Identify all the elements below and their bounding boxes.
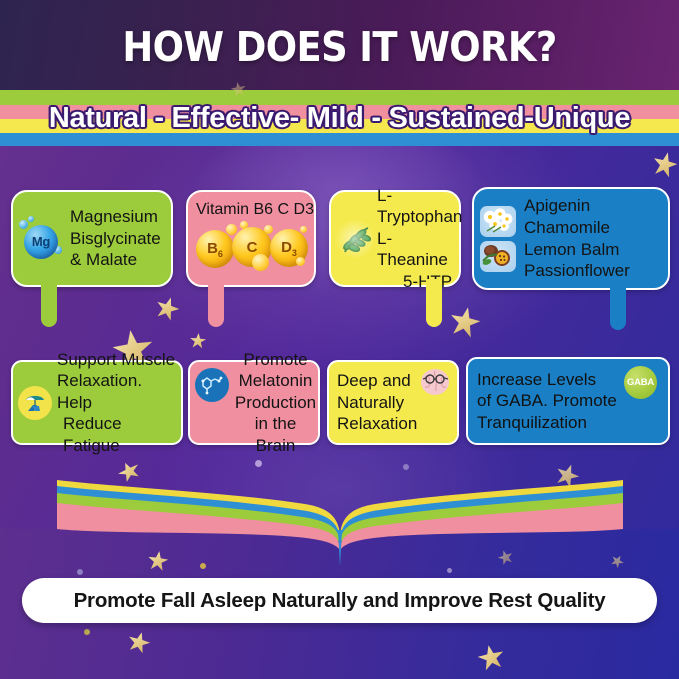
bubble-tail (208, 285, 224, 327)
ingredient-card-vitamins-heading: Vitamin B6 C D3 (196, 200, 314, 220)
text-line: Magnesium (70, 207, 158, 226)
footer-claim-pill[interactable]: Promote Fall Asleep Naturally and Improv… (22, 578, 657, 623)
brain-with-glasses-icon (419, 367, 451, 397)
ingredient-card-vitamins[interactable]: Vitamin B6 C D3 B6 C D3 (186, 190, 316, 287)
benefit-card-melatonin-text: Promote Melatonin Production in the Brai… (233, 349, 318, 457)
text-line: of GABA. Promote (477, 391, 617, 410)
benefit-card-deep-relaxation-text: Deep and Naturally Relaxation (337, 370, 417, 435)
passionfruit-icon (480, 241, 516, 272)
footer-claim-text: Promote Fall Asleep Naturally and Improv… (74, 589, 606, 613)
gaba-badge-label: GABA (627, 377, 654, 388)
benefit-card-gaba[interactable]: Increase Levels of GABA. Promote Tranqui… (466, 357, 670, 445)
banner-tagline: Natural - Effective- Mild - Sustained-Un… (0, 92, 679, 144)
page-title: HOW DOES IT WORK? (0, 23, 679, 71)
benefit-card-muscle-relaxation-text: Support Muscle Relaxation. Help Reduce F… (57, 349, 181, 457)
text-line: Deep and (337, 371, 411, 390)
dot-decoration (255, 460, 262, 467)
text-line: Relaxation. Help (57, 371, 142, 412)
ingredient-card-magnesium[interactable]: Mg Magnesium Bisglycinate & Malate (11, 190, 173, 287)
text-line: Naturally (337, 393, 404, 412)
ingredient-card-aminoacids-text: L-Tryptophan L-Theanine 5-HTP (377, 185, 462, 293)
beach-umbrella-lounger-icon (18, 386, 52, 420)
bubble-tail (610, 288, 626, 330)
text-line: Relaxation (337, 414, 417, 433)
rainbow-wings-decoration (55, 470, 625, 570)
vitamin-bubbles-icon: B6 C D3 (196, 224, 308, 268)
text-line: & Malate (70, 250, 137, 269)
text-line: Production (235, 393, 316, 412)
dot-decoration (84, 629, 90, 635)
magnesium-icon-label: Mg (32, 234, 50, 249)
text-line: Support Muscle (57, 350, 175, 369)
ingredient-card-herbs-text: Apigenin Chamomile Lemon Balm Passionflo… (524, 195, 630, 281)
text-line: Bisglycinate (70, 229, 161, 248)
chamomile-flower-icon (480, 206, 516, 237)
text-line: L-Tryptophan (377, 186, 462, 227)
text-line: Increase Levels (477, 370, 596, 389)
melatonin-molecule-icon (195, 368, 229, 402)
text-line: Chamomile (524, 218, 610, 237)
ingredient-card-herbs[interactable]: Apigenin Chamomile Lemon Balm Passionflo… (472, 187, 670, 290)
bubble-tail (41, 285, 57, 327)
bubble-tail (426, 285, 442, 327)
ingredient-card-aminoacids[interactable]: L-Tryptophan L-Theanine 5-HTP (329, 190, 461, 287)
text-line: Melatonin (239, 371, 313, 390)
benefit-card-gaba-text: Increase Levels of GABA. Promote Tranqui… (477, 369, 617, 434)
text-line: Reduce Fatigue (57, 413, 181, 456)
green-leaf-icon (335, 219, 375, 259)
text-line: in the Brain (255, 414, 297, 455)
text-line: Promote (243, 350, 307, 369)
ingredient-card-magnesium-text: Magnesium Bisglycinate & Malate (70, 206, 161, 271)
text-line: L-Theanine (377, 229, 448, 270)
gaba-badge-icon: GABA (624, 366, 657, 399)
text-line: Tranquilization (477, 413, 587, 432)
benefit-card-melatonin[interactable]: Promote Melatonin Production in the Brai… (188, 360, 320, 445)
benefit-card-deep-relaxation[interactable]: Deep and Naturally Relaxation (327, 360, 459, 445)
text-line: Lemon Balm (524, 240, 619, 259)
benefit-card-muscle-relaxation[interactable]: Support Muscle Relaxation. Help Reduce F… (11, 360, 183, 445)
text-line: Apigenin (524, 196, 590, 215)
magnesium-droplet-icon: Mg (18, 216, 64, 262)
text-line: Passionflower (524, 261, 630, 280)
infographic-poster: HOW DOES IT WORK? Natural - Effective- M… (0, 0, 679, 679)
